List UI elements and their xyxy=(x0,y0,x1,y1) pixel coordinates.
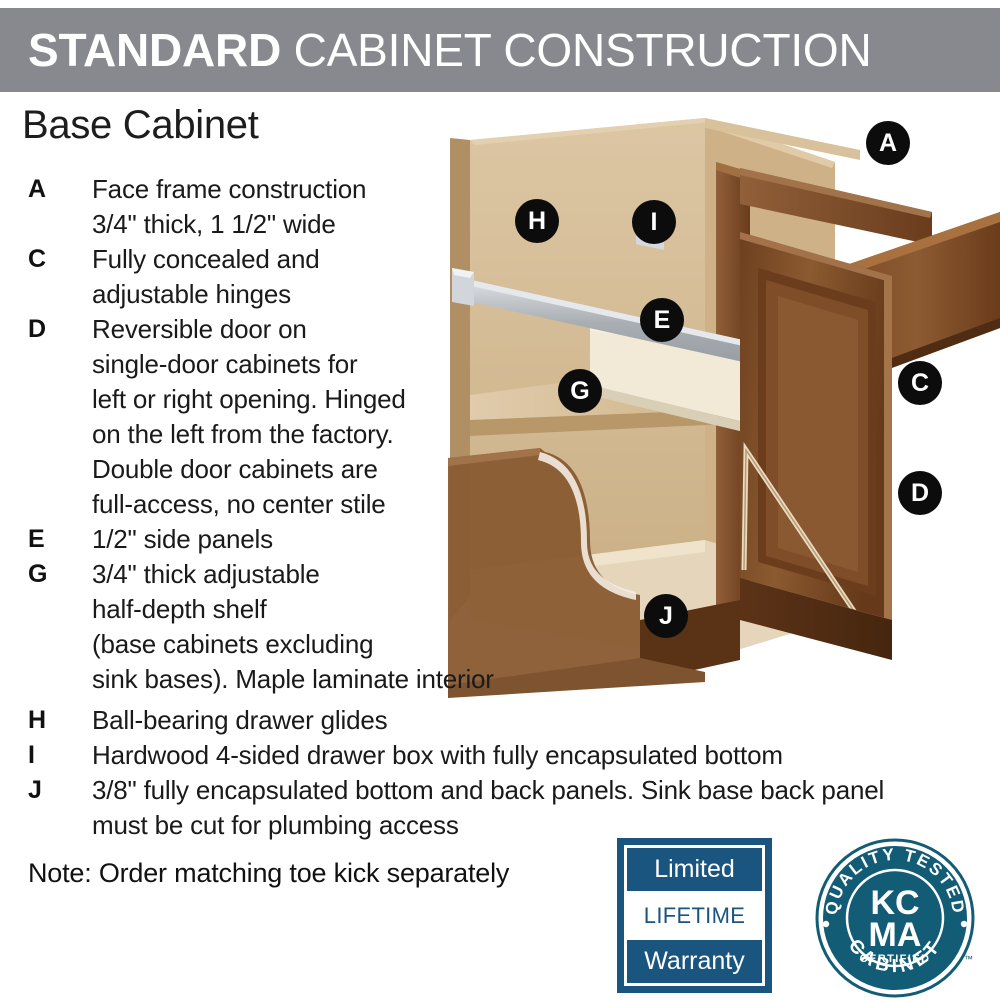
spec-text-j-1: 3/8" fully encapsulated bottom and back … xyxy=(92,773,884,808)
spec-key-i: I xyxy=(28,738,70,773)
spec-row-cont: on the left from the factory. xyxy=(0,417,1000,452)
spec-row: G 3/4" thick adjustable xyxy=(0,557,1000,592)
kcma-center-line3: CERTIFIED xyxy=(860,953,931,965)
spec-text-g-2: half-depth shelf xyxy=(92,592,267,627)
spec-row-cont: adjustable hinges xyxy=(0,277,1000,312)
page-title-rest: CABINET CONSTRUCTION xyxy=(281,24,871,76)
kcma-center-line2: MA xyxy=(869,916,922,954)
spec-key-a: A xyxy=(28,172,70,207)
page-title: STANDARD CABINET CONSTRUCTION xyxy=(28,27,872,73)
spec-key-c: C xyxy=(28,242,70,277)
spec-row-cont: sink bases). Maple laminate interior xyxy=(0,662,1000,697)
spec-key-e: E xyxy=(28,522,70,557)
callout-badge-a[interactable]: A xyxy=(866,121,910,165)
warranty-line-lifetime: LIFETIME xyxy=(627,894,762,937)
spec-row: I Hardwood 4-sided drawer box with fully… xyxy=(0,738,1000,773)
spec-row-cont: single-door cabinets for xyxy=(0,347,1000,382)
spec-text-a-1: Face frame construction xyxy=(92,172,366,207)
spec-row-cont: (base cabinets excluding xyxy=(0,627,1000,662)
spec-text-e-1: 1/2" side panels xyxy=(92,522,273,557)
section-subtitle: Base Cabinet xyxy=(22,102,259,148)
cabinet-construction-infographic: STANDARD CABINET CONSTRUCTION Base Cabin… xyxy=(0,0,1000,1000)
kcma-trademark-symbol: ™ xyxy=(964,954,973,964)
spec-text-i-1: Hardwood 4-sided drawer box with fully e… xyxy=(92,738,783,773)
spec-row-cont: half-depth shelf xyxy=(0,592,1000,627)
spec-row: C Fully concealed and xyxy=(0,242,1000,277)
spec-text-d-6: full-access, no center stile xyxy=(92,487,386,522)
spec-text-d-1: Reversible door on xyxy=(92,312,307,347)
order-note: Note: Order matching toe kick separately xyxy=(28,858,509,889)
spec-row: J 3/8" fully encapsulated bottom and bac… xyxy=(0,773,1000,808)
spec-text-g-3: (base cabinets excluding xyxy=(92,627,373,662)
spec-text-a-2: 3/4" thick, 1 1/2" wide xyxy=(92,207,336,242)
spec-row-cont: full-access, no center stile xyxy=(0,487,1000,522)
warranty-line-warranty: Warranty xyxy=(627,937,762,983)
spec-row-cont: 3/4" thick, 1 1/2" wide xyxy=(0,207,1000,242)
spec-key-g: G xyxy=(28,557,70,592)
spec-text-d-2: single-door cabinets for xyxy=(92,347,357,382)
spec-text-j-2: must be cut for plumbing access xyxy=(92,808,459,843)
warranty-badge-inner: Limited LIFETIME Warranty xyxy=(624,845,765,986)
spec-row: A Face frame construction xyxy=(0,172,1000,207)
spec-text-h-1: Ball-bearing drawer glides xyxy=(92,703,387,738)
spec-key-h: H xyxy=(28,703,70,738)
limited-lifetime-warranty-badge: Limited LIFETIME Warranty xyxy=(617,838,772,993)
spec-row-cont: left or right opening. Hinged xyxy=(0,382,1000,417)
spec-text-c-2: adjustable hinges xyxy=(92,277,291,312)
spec-text-c-1: Fully concealed and xyxy=(92,242,319,277)
spec-row-cont: Double door cabinets are xyxy=(0,452,1000,487)
spec-text-d-3: left or right opening. Hinged xyxy=(92,382,406,417)
page-title-strong: STANDARD xyxy=(28,24,281,76)
spec-key-j: J xyxy=(28,773,70,808)
spec-text-d-5: Double door cabinets are xyxy=(92,452,378,487)
spec-text-g-4: sink bases). Maple laminate interior xyxy=(92,662,494,697)
header-bar: STANDARD CABINET CONSTRUCTION xyxy=(0,8,1000,92)
kcma-certified-seal: QUALITY TESTED CABINET KC MA CERTIFIED ™ xyxy=(815,838,975,998)
spec-text-d-4: on the left from the factory. xyxy=(92,417,394,452)
kcma-seal-svg: QUALITY TESTED CABINET KC MA CERTIFIED xyxy=(815,838,975,998)
spec-text-g-1: 3/4" thick adjustable xyxy=(92,557,320,592)
spec-key-d: D xyxy=(28,312,70,347)
spec-row: E 1/2" side panels xyxy=(0,522,1000,557)
specification-list: A Face frame construction 3/4" thick, 1 … xyxy=(0,172,1000,843)
warranty-line-limited: Limited xyxy=(627,848,762,894)
spec-row: H Ball-bearing drawer glides xyxy=(0,703,1000,738)
spec-row: D Reversible door on xyxy=(0,312,1000,347)
